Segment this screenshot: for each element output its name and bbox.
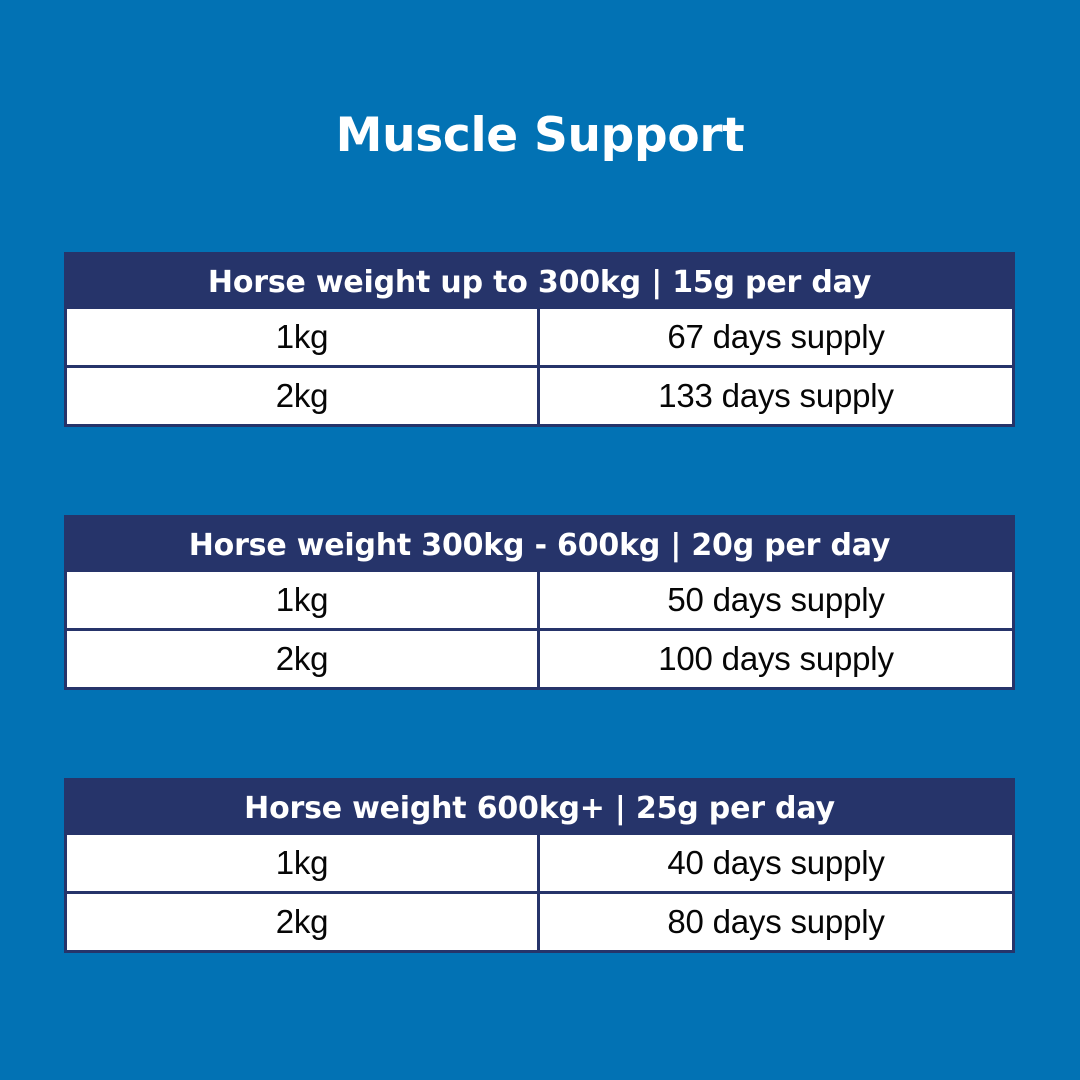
- table-3-header: Horse weight 600kg+ | 25g per day: [67, 781, 1012, 835]
- page-title: Muscle Support: [0, 108, 1080, 164]
- table-row: 2kg 133 days supply: [67, 365, 1012, 424]
- table-3-row-1-size: 1kg: [67, 835, 540, 891]
- table-row: 1kg 50 days supply: [67, 572, 1012, 628]
- table-row: 1kg 67 days supply: [67, 309, 1012, 365]
- table-row: 1kg 40 days supply: [67, 835, 1012, 891]
- table-row: 2kg 100 days supply: [67, 628, 1012, 687]
- table-3-row-2-size: 2kg: [67, 894, 540, 950]
- table-3-row-1-supply: 40 days supply: [540, 835, 1012, 891]
- table-1-header: Horse weight up to 300kg | 15g per day: [67, 255, 1012, 309]
- table-1-row-1-size: 1kg: [67, 309, 540, 365]
- table-2-row-2-supply: 100 days supply: [540, 631, 1012, 687]
- supply-table-1: Horse weight up to 300kg | 15g per day 1…: [64, 252, 1015, 427]
- supply-table-2: Horse weight 300kg - 600kg | 20g per day…: [64, 515, 1015, 690]
- table-1-row-2-size: 2kg: [67, 368, 540, 424]
- table-2-row-2-size: 2kg: [67, 631, 540, 687]
- supply-tables-group: Horse weight up to 300kg | 15g per day 1…: [64, 252, 1015, 953]
- table-3-row-2-supply: 80 days supply: [540, 894, 1012, 950]
- table-2-header: Horse weight 300kg - 600kg | 20g per day: [67, 518, 1012, 572]
- table-2-row-1-supply: 50 days supply: [540, 572, 1012, 628]
- supply-table-3: Horse weight 600kg+ | 25g per day 1kg 40…: [64, 778, 1015, 953]
- table-row: 2kg 80 days supply: [67, 891, 1012, 950]
- table-1-row-1-supply: 67 days supply: [540, 309, 1012, 365]
- table-1-row-2-supply: 133 days supply: [540, 368, 1012, 424]
- poster-canvas: Muscle Support Horse weight up to 300kg …: [0, 0, 1080, 1080]
- table-2-row-1-size: 1kg: [67, 572, 540, 628]
